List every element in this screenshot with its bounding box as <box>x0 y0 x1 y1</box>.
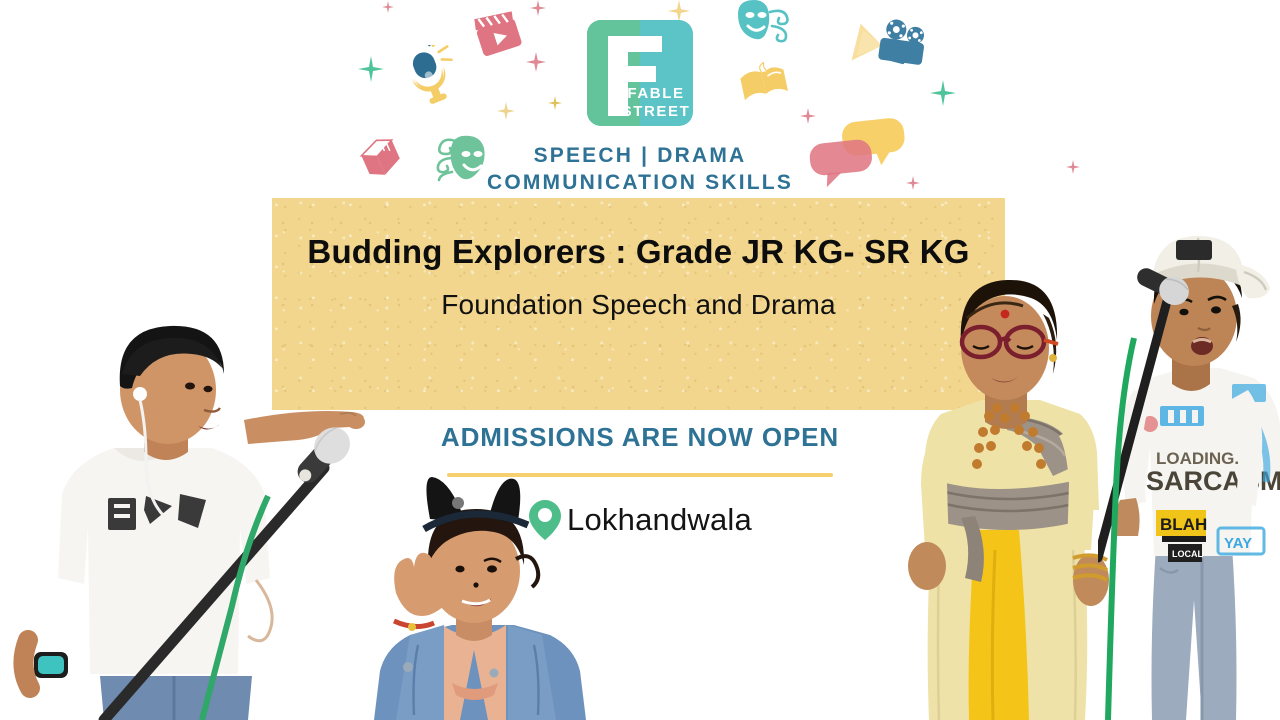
brand-tagline: SPEECH | DRAMA COMMUNICATION SKILLS <box>0 142 1280 197</box>
sparkle-star-icon <box>497 102 515 125</box>
course-title: Budding Explorers : Grade JR KG- SR KG <box>272 232 1005 272</box>
svg-text:SARCASM: SARCASM <box>1146 466 1280 496</box>
svg-text:YAY: YAY <box>1224 535 1252 552</box>
promotional-poster: FABLE STREET SPEECH | DRAMA COMMUNICATIO… <box>0 0 1280 720</box>
theater-masks-teal-icon <box>736 0 798 59</box>
clapperboard-icon <box>470 8 524 65</box>
tagline-line-1: SPEECH | DRAMA <box>0 142 1280 169</box>
brand-logo: FABLE STREET <box>581 14 699 132</box>
sparkle-star-icon <box>530 0 546 21</box>
svg-text:LOCAL: LOCAL <box>1172 549 1203 559</box>
film-projector-icon <box>848 18 934 97</box>
book-open-icon <box>738 62 790 111</box>
sparkle-star-icon <box>526 52 546 77</box>
logo-text-street: STREET <box>622 103 691 120</box>
location-name: Lokhandwala <box>567 502 752 538</box>
sparkle-burst-icon <box>358 56 384 87</box>
svg-text:BLAH: BLAH <box>1160 515 1207 534</box>
sparkle-star-icon <box>382 0 394 18</box>
photo-boy-pointing <box>0 290 394 720</box>
sparkle-burst-icon <box>930 80 956 111</box>
logo-text-fable: FABLE <box>627 85 684 102</box>
photo-girl-cat-ears <box>366 475 586 720</box>
sparkle-star-icon <box>548 96 562 115</box>
photo-girl-traditional <box>905 250 1110 720</box>
microphone-icon <box>400 45 462 122</box>
tagline-line-2: COMMUNICATION SKILLS <box>0 169 1280 196</box>
fable-street-logo-icon: FABLE STREET <box>581 14 699 132</box>
sparkle-star-icon <box>800 108 816 129</box>
photo-boy-microphone: LOADING... SARCASM BLAH LOCAL YAY <box>1098 228 1280 720</box>
